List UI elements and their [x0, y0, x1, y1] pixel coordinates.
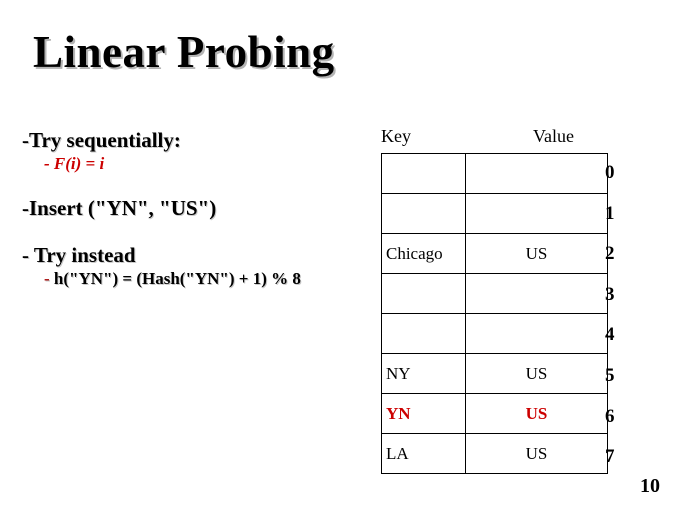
row-index-label: 2: [605, 234, 615, 275]
row-index-label: 5: [605, 356, 615, 397]
bullet-label-try-instead: Try instead: [34, 243, 136, 267]
table-row[interactable]: NY US: [382, 354, 608, 394]
cell-key: Chicago: [382, 234, 466, 274]
bullet-label-insert: Insert ("YN", "US"): [29, 196, 216, 220]
bullet-list: -Try sequentially: - F(i) = i -Insert ("…: [22, 128, 372, 289]
page-number: 10: [640, 475, 660, 498]
row-index-label: 1: [605, 194, 615, 235]
column-header-value: Value: [533, 126, 574, 147]
bullet-dash-icon: -: [22, 128, 29, 152]
cell-key: [382, 154, 466, 194]
cell-value: US: [466, 354, 608, 394]
hash-table: Chicago US NY US YN US LA US: [381, 153, 608, 474]
cell-value: [466, 154, 608, 194]
cell-value: US: [466, 434, 608, 474]
table-header-row: Key Value: [381, 126, 591, 153]
cell-value: US: [466, 234, 608, 274]
cell-value: [466, 274, 608, 314]
row-index-label: 0: [605, 153, 615, 194]
cell-key: LA: [382, 434, 466, 474]
row-index-label: 7: [605, 437, 615, 478]
bullet-item-hash-expression: - h("YN") = (Hash("YN") + 1) % 8: [22, 268, 372, 289]
cell-value: [466, 314, 608, 354]
cell-value: [466, 194, 608, 234]
row-index-label: 4: [605, 315, 615, 356]
cell-key: [382, 194, 466, 234]
cell-key: NY: [382, 354, 466, 394]
bullet-spacer: [22, 174, 372, 196]
bullet-dash-icon: -: [44, 269, 50, 288]
row-index-label: 3: [605, 275, 615, 316]
bullet-item-try-instead: - Try instead: [22, 243, 372, 268]
cell-value: US: [466, 394, 608, 434]
column-header-key: Key: [381, 126, 411, 147]
bullet-dash-icon: -: [22, 243, 29, 267]
table-row[interactable]: [382, 154, 608, 194]
bullet-dash-icon: -: [22, 196, 29, 220]
bullet-label-try-sequentially: Try sequentially:: [29, 128, 181, 152]
bullet-item-try-sequentially: -Try sequentially:: [22, 128, 372, 153]
row-index-column: 0 1 2 3 4 5 6 7: [605, 153, 615, 478]
bullet-label-hash-expression: h("YN") = (Hash("YN") + 1) % 8: [54, 269, 301, 288]
table-row[interactable]: LA US: [382, 434, 608, 474]
cell-key: [382, 314, 466, 354]
bullet-item-insert: -Insert ("YN", "US"): [22, 196, 372, 221]
table-row[interactable]: Chicago US: [382, 234, 608, 274]
row-index-label: 6: [605, 397, 615, 438]
cell-key: [382, 274, 466, 314]
bullet-spacer: [22, 221, 372, 243]
table-row[interactable]: [382, 274, 608, 314]
table-row-highlighted[interactable]: YN US: [382, 394, 608, 434]
table-row[interactable]: [382, 194, 608, 234]
bullet-item-formula: - F(i) = i: [22, 153, 372, 174]
bullet-dash-icon: -: [44, 154, 50, 173]
table-row[interactable]: [382, 314, 608, 354]
cell-key: YN: [382, 394, 466, 434]
hash-table-block: Key Value Chicago US: [381, 126, 608, 474]
bullet-label-formula: F(i) = i: [54, 154, 104, 173]
page-title: Linear Probing: [33, 26, 335, 78]
